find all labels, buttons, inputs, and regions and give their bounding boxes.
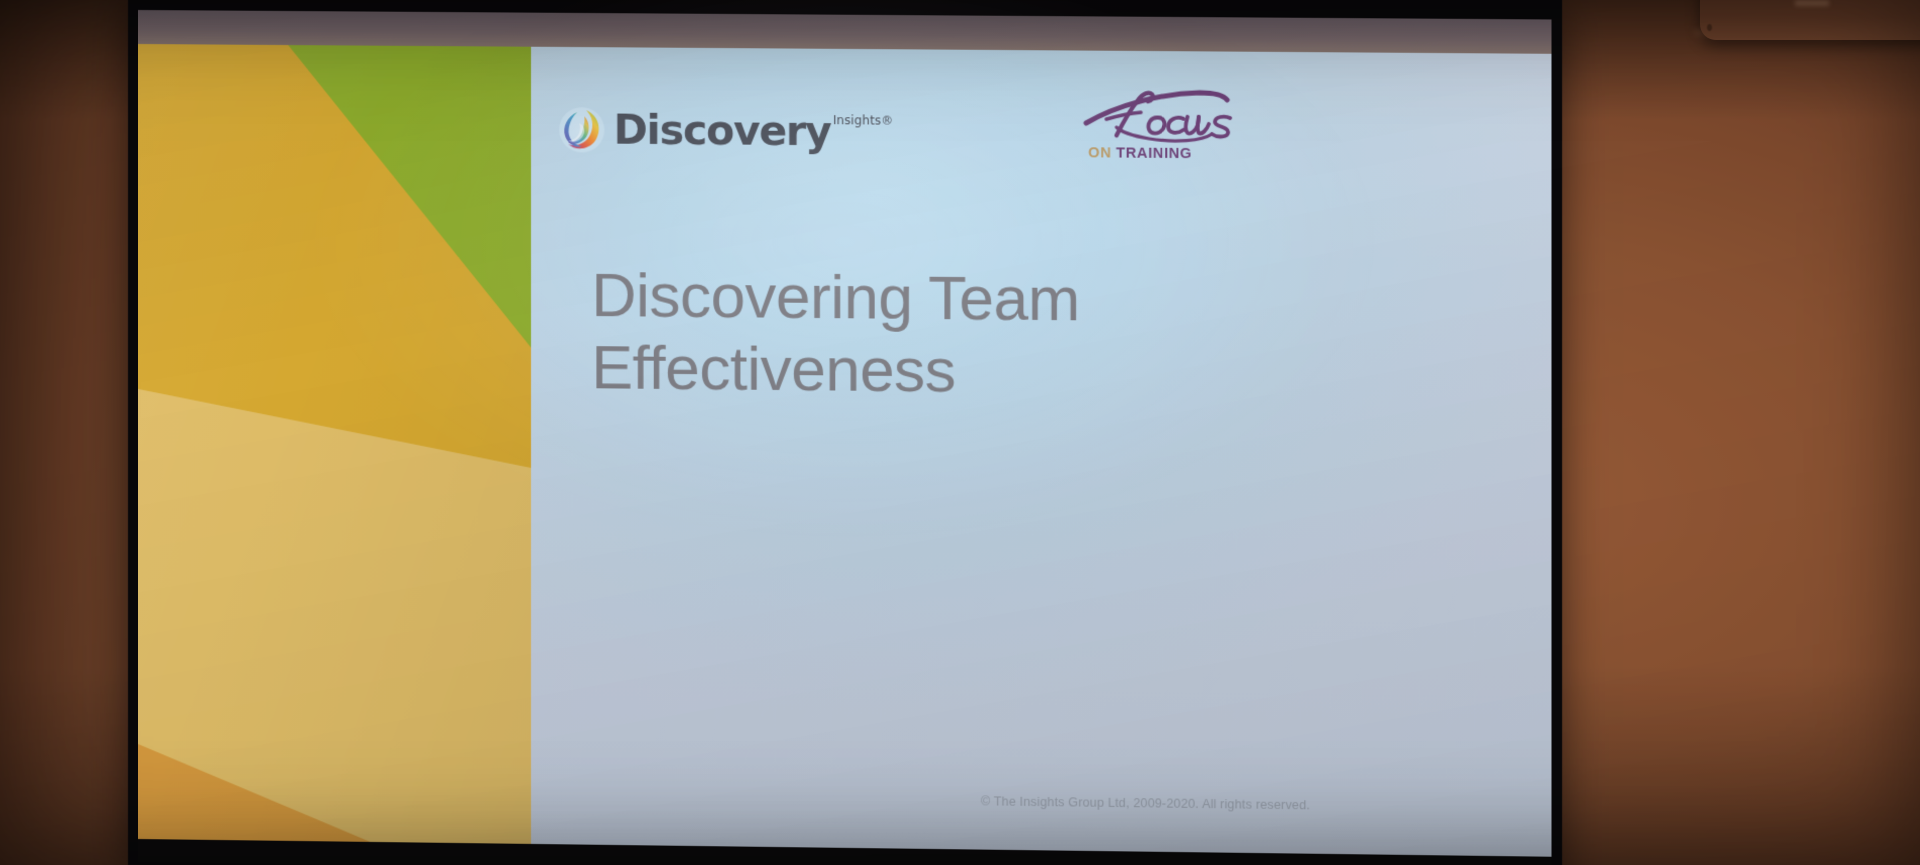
slide-title-line-2: Effectiveness <box>591 332 1116 409</box>
discovery-wordmark-text: Discovery <box>614 110 831 153</box>
discovery-wordmark: Discovery Insights® <box>614 110 894 153</box>
wall-mounted-unit <box>1700 0 1920 40</box>
insights-superscript-text: Insights® <box>833 113 893 128</box>
wall-speck <box>1707 24 1712 31</box>
photo-scene: Discovery Insights® <box>0 0 1920 865</box>
wall-mark <box>1795 0 1829 6</box>
focus-subtitle-on: ON <box>1088 145 1111 161</box>
panel-sheen <box>138 44 531 844</box>
slide-title: Discovering Team Effectiveness <box>591 260 1116 409</box>
insights-swirl-icon <box>559 107 604 152</box>
focus-subtitle: ON TRAINING <box>1088 145 1192 162</box>
discovery-insights-logo: Discovery Insights® <box>559 107 893 155</box>
focus-script-icon <box>1082 83 1252 147</box>
slide-content-vignette <box>531 47 1552 857</box>
slide-title-line-1: Discovering Team <box>591 260 1116 337</box>
focus-subtitle-training: TRAINING <box>1116 145 1192 162</box>
slide-left-graphic-panel <box>138 44 531 844</box>
projector-screen-surface: Discovery Insights® <box>138 0 1552 865</box>
presentation-slide: Discovery Insights® <box>138 44 1552 857</box>
focus-on-training-logo: ON TRAINING <box>1082 83 1252 165</box>
